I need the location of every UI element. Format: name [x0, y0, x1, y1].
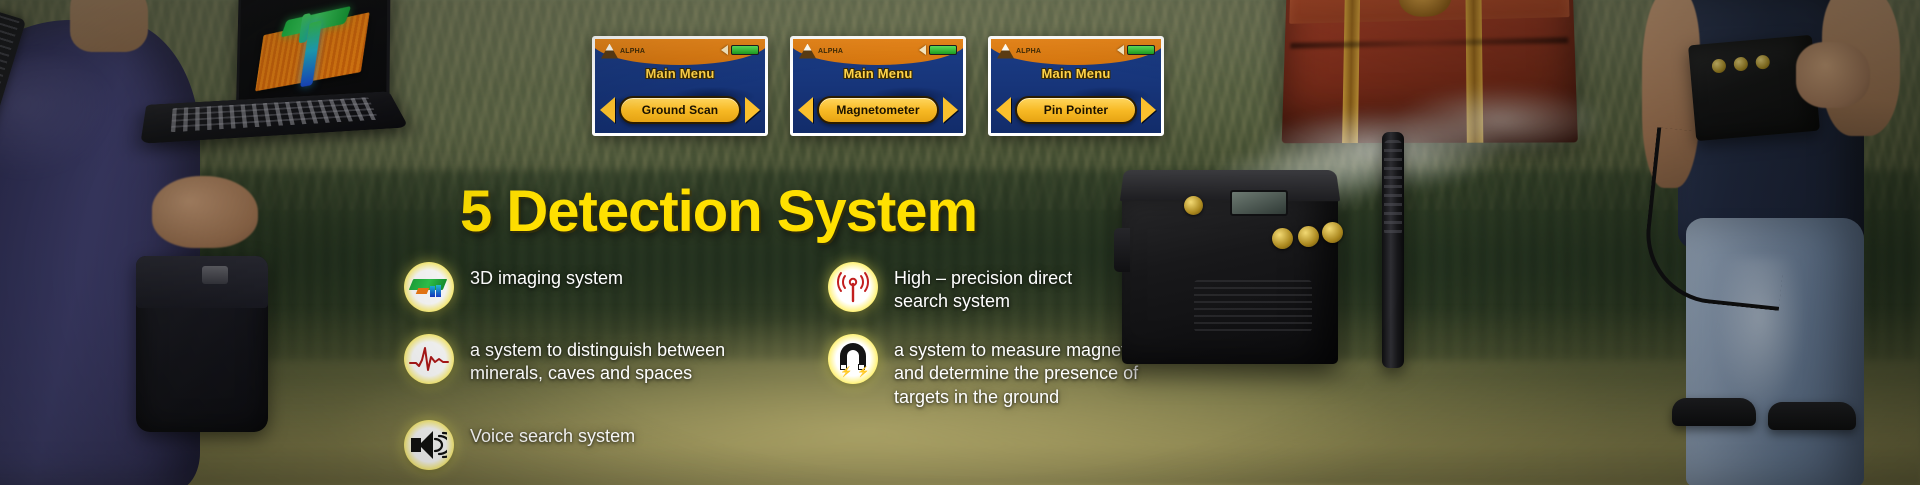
promotional-banner: ALPHA Main Menu Ground Scan ALPHA	[0, 0, 1920, 485]
vignette-overlay	[0, 0, 1920, 485]
